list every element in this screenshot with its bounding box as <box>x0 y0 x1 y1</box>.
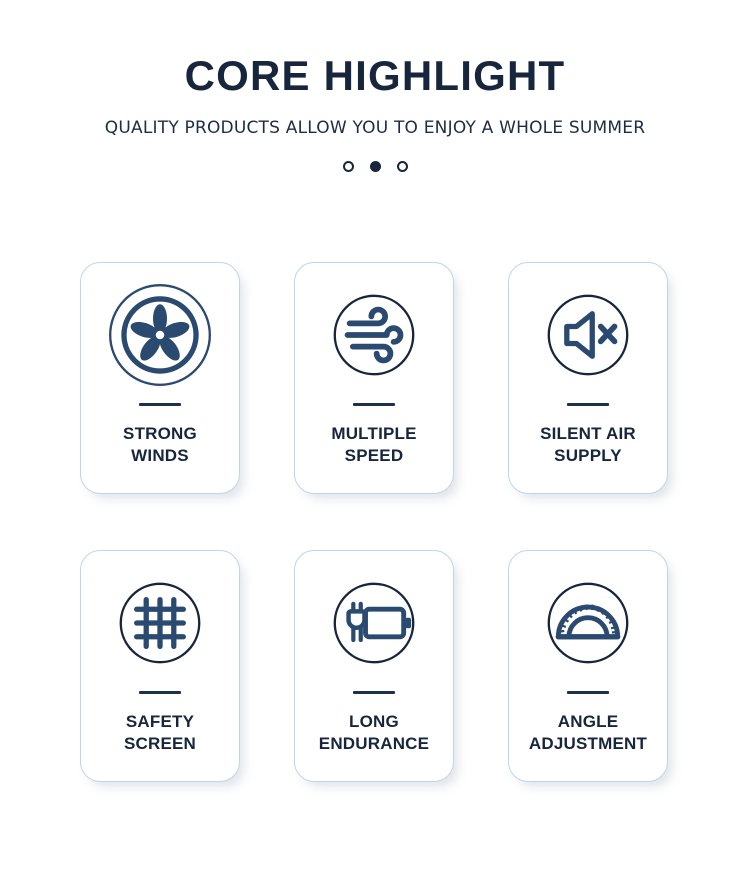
feature-label: STRONG WINDS <box>117 423 203 466</box>
core-highlight-page: CORE HIGHLIGHT QUALITY PRODUCTS ALLOW YO… <box>0 0 750 878</box>
card-divider <box>139 691 181 694</box>
mesh-grid-icon <box>104 567 216 679</box>
feature-card-silent-air-supply[interactable]: SILENT AIR SUPPLY <box>508 262 668 494</box>
card-divider <box>567 403 609 406</box>
card-divider <box>567 691 609 694</box>
feature-label: ANGLE ADJUSTMENT <box>523 711 653 754</box>
carousel-dot-1[interactable] <box>343 161 354 172</box>
card-divider <box>353 691 395 694</box>
header-section: CORE HIGHLIGHT QUALITY PRODUCTS ALLOW YO… <box>0 0 750 172</box>
protractor-icon <box>532 567 644 679</box>
page-subtitle: QUALITY PRODUCTS ALLOW YOU TO ENJOY A WH… <box>0 118 750 138</box>
feature-label: SILENT AIR SUPPLY <box>534 423 642 466</box>
carousel-dot-2-active[interactable] <box>370 161 381 172</box>
feature-card-strong-winds[interactable]: STRONG WINDS <box>80 262 240 494</box>
wind-icon <box>318 279 430 391</box>
carousel-dot-3[interactable] <box>397 161 408 172</box>
fan-icon <box>104 279 216 391</box>
feature-label: SAFETY SCREEN <box>118 711 202 754</box>
card-divider <box>353 403 395 406</box>
feature-card-angle-adjustment[interactable]: ANGLE ADJUSTMENT <box>508 550 668 782</box>
mute-speaker-icon <box>532 279 644 391</box>
feature-card-multiple-speed[interactable]: MULTIPLE SPEED <box>294 262 454 494</box>
battery-plug-icon <box>318 567 430 679</box>
card-divider <box>139 403 181 406</box>
feature-card-grid: STRONG WINDS MULTIPLE SPEED <box>80 262 670 782</box>
feature-card-long-endurance[interactable]: LONG ENDURANCE <box>294 550 454 782</box>
feature-card-safety-screen[interactable]: SAFETY SCREEN <box>80 550 240 782</box>
feature-label: LONG ENDURANCE <box>313 711 435 754</box>
page-title: CORE HIGHLIGHT <box>0 52 750 100</box>
carousel-dots <box>0 161 750 172</box>
feature-label: MULTIPLE SPEED <box>325 423 422 466</box>
